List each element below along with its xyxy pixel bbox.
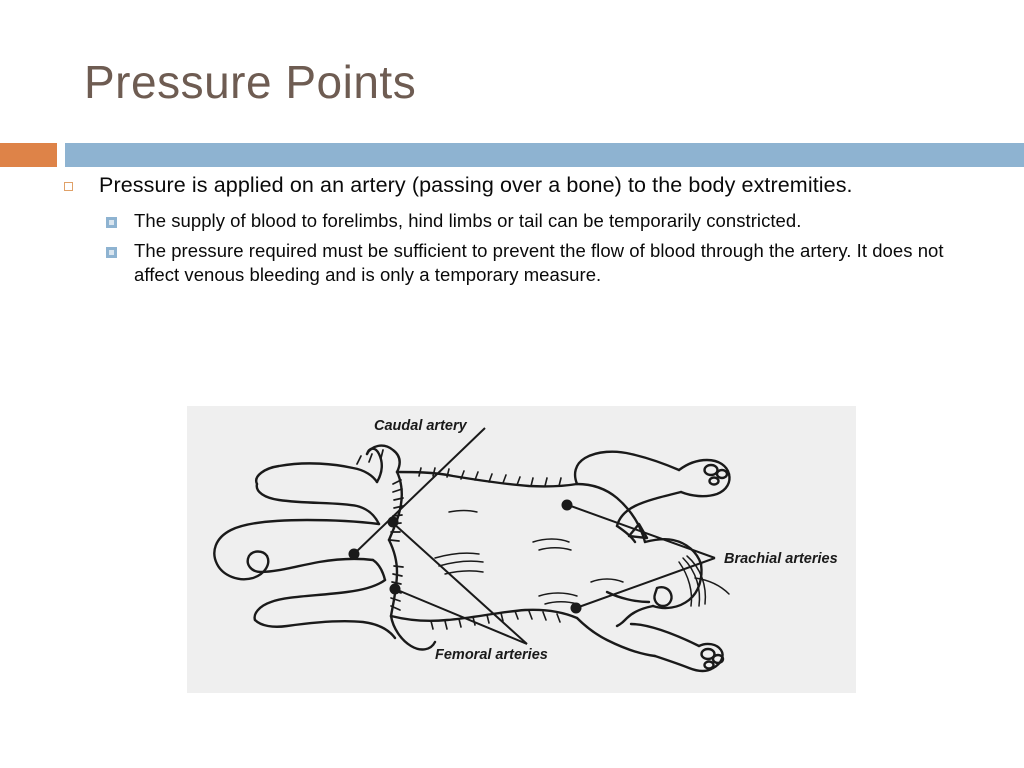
sub-bullet-list: The supply of blood to forelimbs, hind l…	[62, 209, 962, 287]
bullet-level1: Pressure is applied on an artery (passin…	[62, 172, 962, 199]
figure-label-caudal-artery: Caudal artery	[374, 418, 468, 434]
pressure-point-caudal	[349, 549, 360, 560]
cat-pressure-point-diagram: Caudal artery Brachial arteries Femoral …	[187, 406, 856, 693]
slide: Pressure Points Pressure is applied on a…	[0, 0, 1024, 768]
bullet-level2: The pressure required must be sufficient…	[105, 239, 962, 287]
bullet-level1-text: Pressure is applied on an artery (passin…	[99, 172, 962, 199]
bullet-level2: The supply of blood to forelimbs, hind l…	[105, 209, 962, 233]
accent-bar-orange	[0, 143, 57, 167]
pressure-point-brachial-lower	[571, 603, 582, 614]
pressure-point-femoral-upper	[388, 517, 399, 528]
bullet-level2-text: The supply of blood to forelimbs, hind l…	[134, 209, 962, 233]
bullet-square-icon	[64, 182, 73, 191]
bullet-square-icon	[106, 247, 117, 258]
pressure-point-brachial-upper	[562, 500, 573, 511]
bullet-square-icon	[106, 217, 117, 228]
pressure-point-femoral-lower	[390, 584, 401, 595]
figure-label-brachial-arteries: Brachial arteries	[724, 551, 838, 567]
figure-label-femoral-arteries: Femoral arteries	[435, 647, 548, 663]
bullet-level2-text: The pressure required must be sufficient…	[134, 239, 962, 287]
body-content: Pressure is applied on an artery (passin…	[62, 172, 962, 293]
anatomy-figure: Caudal artery Brachial arteries Femoral …	[187, 406, 856, 693]
page-title: Pressure Points	[84, 54, 416, 110]
accent-bar-blue	[65, 143, 1024, 167]
